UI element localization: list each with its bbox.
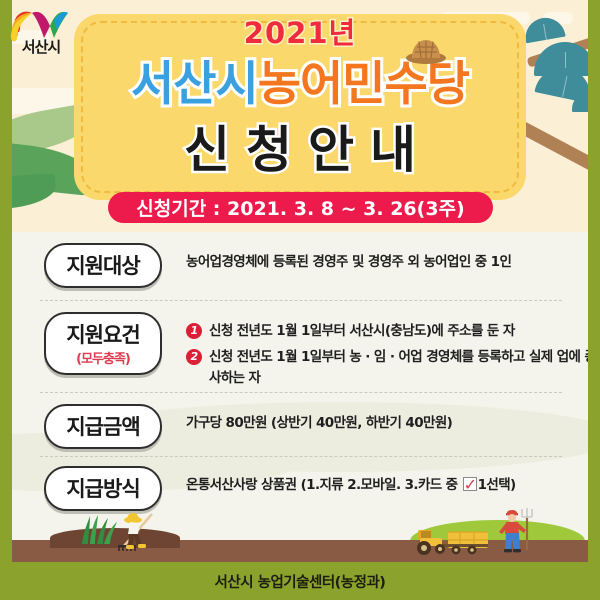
tractor-with-hay-bales-icon: [412, 520, 492, 556]
payment-method-text: 온통서산사랑 상품권 (1.지류 2.모바일. 3.카드 중: [186, 477, 462, 493]
row-description: 온통서산사랑 상품권 (1.지류 2.모바일. 3.카드 중 1선택): [186, 466, 600, 496]
main-title: 서산시농어민수당: [0, 45, 600, 114]
number-badge-2: 2: [186, 349, 202, 365]
row-sublabel-text: (모두충족): [56, 348, 150, 367]
row-payment-method: 지급방식 온통서산사랑 상품권 (1.지류 2.모바일. 3.카드 중 1선택): [0, 466, 600, 511]
footer-text: 서산시 농업기술센터(농정과): [215, 571, 386, 592]
application-period-banner: 신청기간 : 2021. 3. 8 ~ 3. 26(3주): [108, 192, 493, 223]
row-description: 농어업경영체에 등록된 경영주 및 경영주 외 농어업인 중 1인: [186, 243, 600, 273]
footer-bar: 서산시 농업기술센터(농정과): [0, 562, 600, 600]
row-label-text: 지급금액: [56, 411, 150, 441]
row-description: 가구당 80만원 (상반기 40만원, 하반기 40만원): [186, 404, 600, 434]
list-item: 2 신청 전년도 1월 1일부터 농 · 임 · 어업 경영체를 등록하고 실제…: [186, 347, 600, 389]
row-payment-amount: 지급금액 가구당 80만원 (상반기 40만원, 하반기 40만원): [0, 404, 600, 449]
row-divider: [40, 300, 562, 301]
row-support-target: 지원대상 농어업경영체에 등록된 경영주 및 경영주 외 농어업인 중 1인: [0, 243, 600, 288]
logo-city-name: 서산시: [8, 36, 74, 57]
list-item: 1 신청 전년도 1월 1일부터 서산시(충남도)에 주소를 둔 자: [186, 321, 600, 342]
payment-method-select-text: 1선택): [478, 477, 516, 493]
farmer-with-rake-icon: [108, 512, 162, 554]
row-eligibility: 지원요건 (모두충족) 1 신청 전년도 1월 1일부터 서산시(충남도)에 주…: [0, 312, 600, 394]
list-item-text: 신청 전년도 1월 1일부터 서산시(충남도)에 주소를 둔 자: [209, 321, 600, 342]
row-label-pill: 지원대상: [44, 243, 162, 288]
row-label-text: 지급방식: [56, 473, 150, 503]
row-label-text: 지원대상: [56, 250, 150, 280]
number-badge-1: 1: [186, 323, 202, 339]
poster-root: 서산시 2021년 서산시농어민수당 신청안내 신청기간 : 2021. 3. …: [0, 0, 600, 600]
row-label-pill: 지급금액: [44, 404, 162, 449]
straw-hat-icon: [405, 38, 447, 64]
list-item-text: 신청 전년도 1월 1일부터 농 · 임 · 어업 경영체를 등록하고 실제 업…: [209, 347, 600, 389]
checked-box-icon: [463, 477, 477, 491]
main-title-blue: 서산시: [131, 57, 258, 112]
sub-title: 신청안내: [0, 110, 600, 182]
row-divider: [40, 392, 562, 393]
row-divider: [40, 456, 562, 457]
farmer-with-pitchfork-icon: [495, 508, 535, 556]
row-description: 1 신청 전년도 1월 1일부터 서산시(충남도)에 주소를 둔 자 2 신청 …: [186, 312, 600, 394]
main-title-orange: 농어민수당: [258, 57, 469, 112]
row-label-pill: 지원요건 (모두충족): [44, 312, 162, 375]
row-label-pill: 지급방식: [44, 466, 162, 511]
row-label-text: 지원요건: [56, 319, 150, 349]
